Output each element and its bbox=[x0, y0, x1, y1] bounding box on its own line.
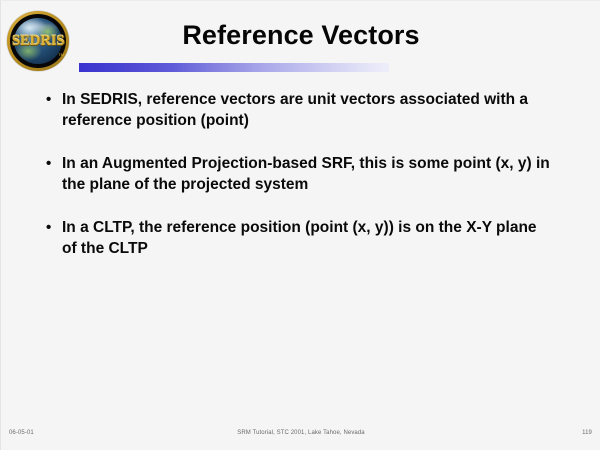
footer-page-number: 119 bbox=[582, 430, 592, 436]
list-item-text: In an Augmented Projection-based SRF, th… bbox=[62, 153, 555, 195]
slide-footer: 06-05-01 SRM Tutorial, STC 2001, Lake Ta… bbox=[1, 424, 600, 450]
page-title: Reference Vectors bbox=[91, 20, 511, 51]
list-item: • In a CLTP, the reference position (poi… bbox=[45, 217, 555, 259]
list-item-text: In SEDRIS, reference vectors are unit ve… bbox=[62, 89, 555, 131]
logo-trademark-icon: TM bbox=[58, 52, 64, 57]
bullet-marker-icon: • bbox=[46, 89, 51, 110]
title-gradient-divider bbox=[79, 63, 389, 72]
bullet-list: • In SEDRIS, reference vectors are unit … bbox=[45, 89, 555, 259]
list-item: • In SEDRIS, reference vectors are unit … bbox=[45, 89, 555, 131]
logo-wordmark: SEDRIS bbox=[7, 34, 69, 49]
list-item-text: In a CLTP, the reference position (point… bbox=[62, 217, 555, 259]
slide-canvas: SEDRIS TM Reference Vectors • In SEDRIS,… bbox=[0, 0, 600, 450]
sedris-logo-icon: SEDRIS TM bbox=[7, 11, 69, 71]
bullet-marker-icon: • bbox=[46, 217, 51, 238]
list-item: • In an Augmented Projection-based SRF, … bbox=[45, 153, 555, 195]
footer-event-label: SRM Tutorial, STC 2001, Lake Tahoe, Neva… bbox=[1, 430, 600, 436]
bullet-marker-icon: • bbox=[46, 153, 51, 174]
